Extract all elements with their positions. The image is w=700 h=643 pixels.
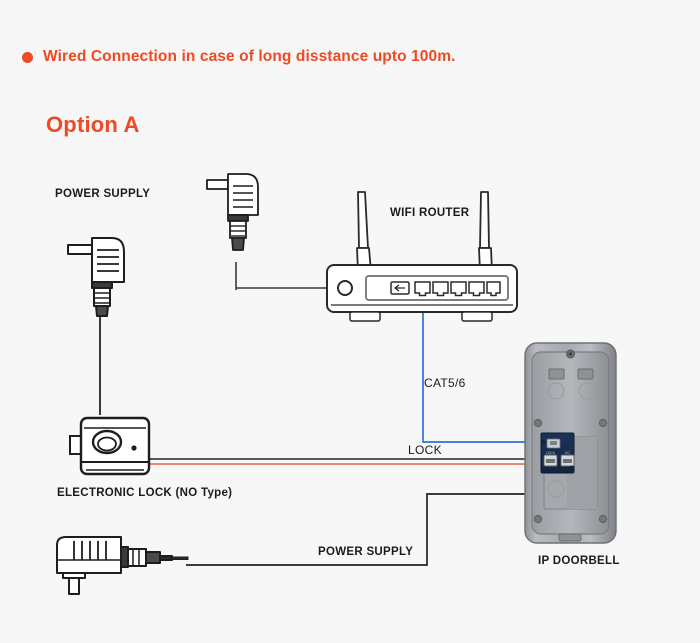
power-supply-adapter-top-icon xyxy=(68,238,124,316)
ip-doorbell: LOCK DC xyxy=(523,341,618,545)
label-electronic-lock: ELECTRONIC LOCK (NO Type) xyxy=(57,487,232,499)
label-ip-doorbell: IP DOORBELL xyxy=(538,555,620,567)
power-supply-adapter-bottom-icon xyxy=(57,537,188,594)
router-antenna-right xyxy=(480,192,489,248)
label-lock-wire: LOCK xyxy=(408,443,442,457)
label-cat5-cable: CAT5/6 xyxy=(424,376,466,390)
lock-screw xyxy=(131,445,136,450)
router-power-jack xyxy=(338,281,352,295)
terminal-lock-label: LOCK xyxy=(546,451,556,455)
power-supply-adapter-router-icon xyxy=(207,174,258,250)
electronic-lock-icon xyxy=(70,418,149,474)
diagram-page: Wired Connection in case of long disstan… xyxy=(0,0,700,643)
terminal-dc-label: DC xyxy=(565,451,570,455)
label-wifi-router: WIFI ROUTER xyxy=(390,207,469,219)
label-power-supply-top: POWER SUPPLY xyxy=(55,188,150,200)
label-power-supply-bottom: POWER SUPPLY xyxy=(318,546,413,558)
router-antenna-left xyxy=(358,192,368,248)
router-ethernet-ports xyxy=(415,282,500,296)
